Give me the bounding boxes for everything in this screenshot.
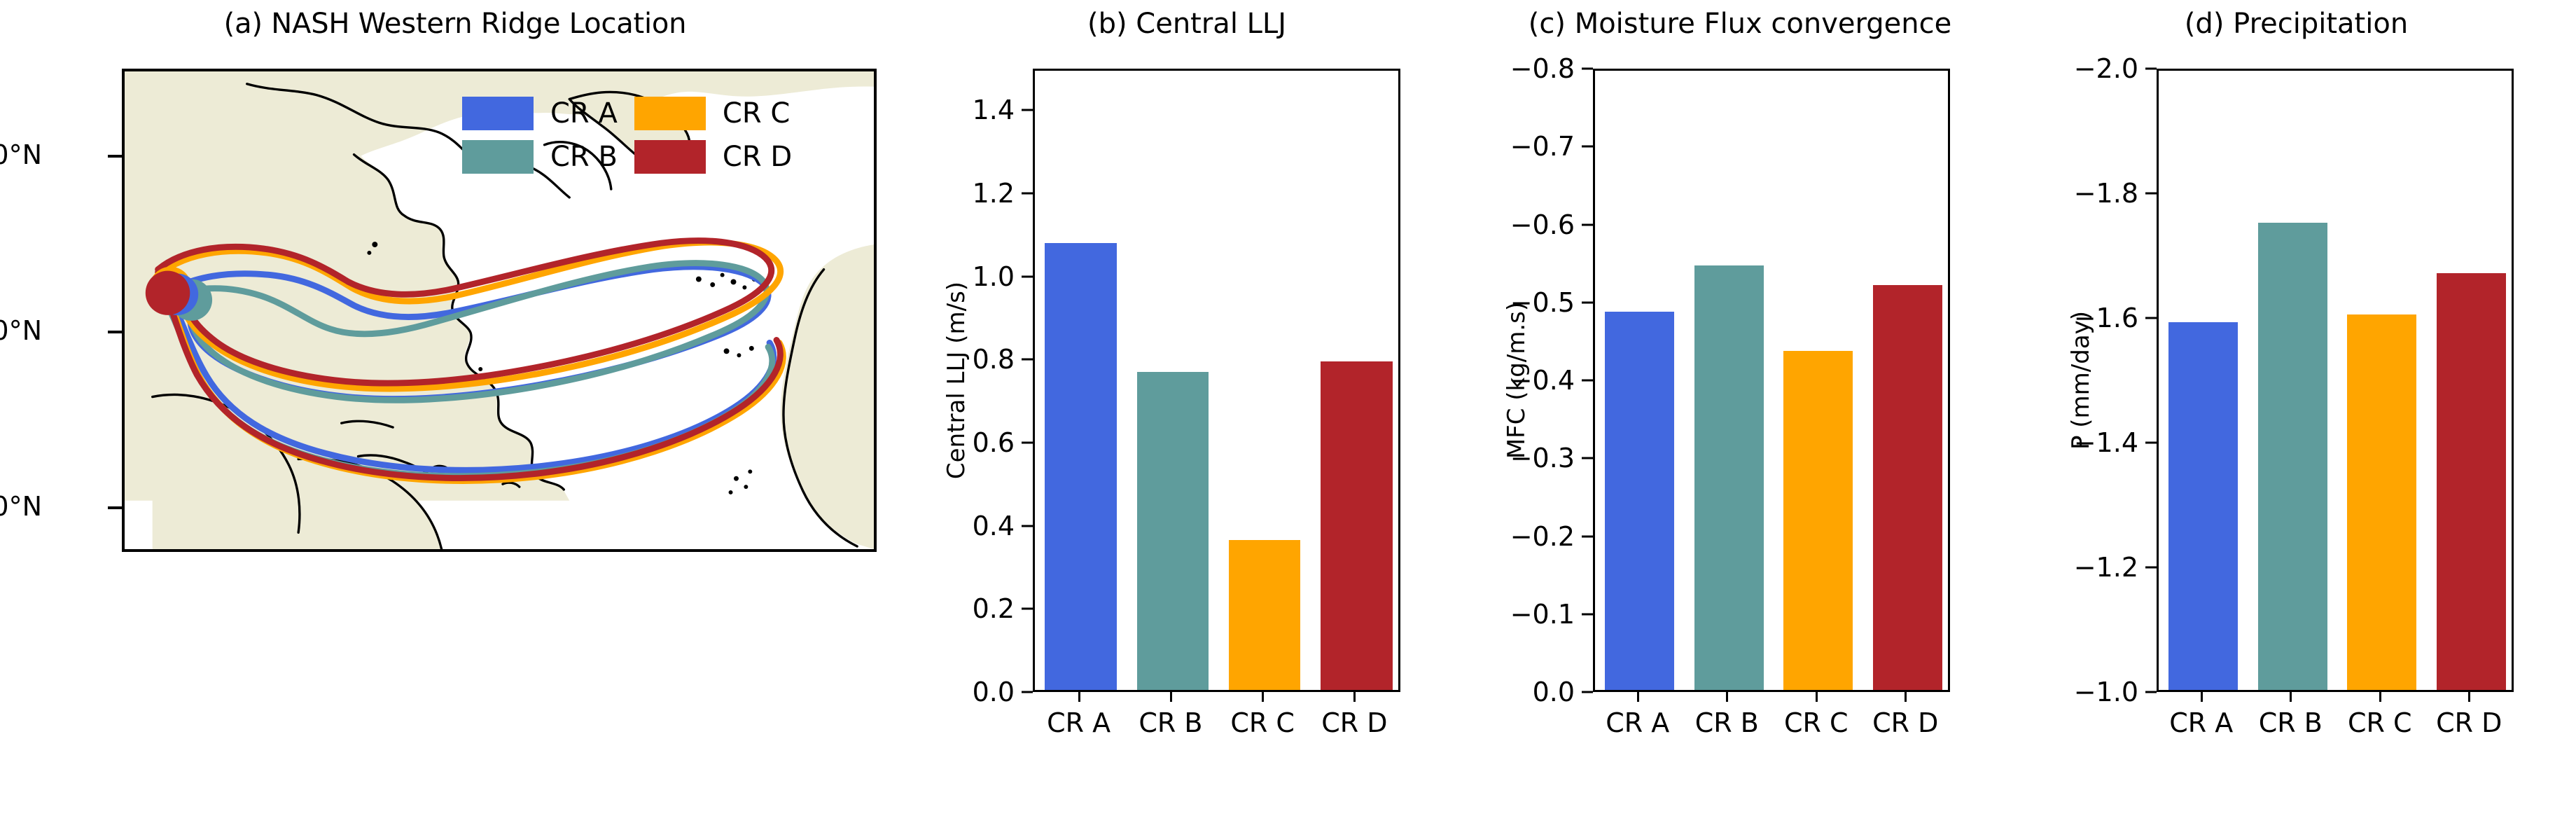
xtick-label-cr-a: CR A	[1606, 707, 1669, 738]
map-lat-tick-30	[108, 331, 122, 333]
map-frame: CR A CR C CR B CR D	[122, 69, 877, 552]
ytick-mark-3	[1582, 457, 1593, 459]
bar-cr-b	[1137, 372, 1209, 690]
panel-c-title: (c) Moisture Flux convergence	[1463, 8, 2017, 40]
ytick-mark-1	[2145, 567, 2157, 569]
ytick-mark-3	[1022, 442, 1033, 444]
ytick-mark-1	[1582, 613, 1593, 615]
legend-swatch-cr-c	[634, 97, 706, 130]
ytick-label-8: −0.8	[1510, 53, 1575, 84]
ytick-label-5: −0.5	[1510, 287, 1575, 318]
figure-root: (a) NASH Western Ridge Location	[0, 0, 2576, 816]
ytick-mark-5	[2145, 68, 2157, 70]
map-lat-label-10: 10°N	[0, 491, 42, 522]
xtick-mark-0	[1637, 692, 1639, 702]
ytick-label-7: −0.7	[1510, 131, 1575, 162]
bar-cr-a	[1045, 243, 1116, 690]
legend-swatch-cr-a	[462, 97, 534, 130]
bar-cr-d	[1873, 285, 1942, 691]
xtick-mark-3	[1905, 692, 1907, 702]
bar-cr-b	[2258, 223, 2327, 691]
ytick-label-3: 0.6	[973, 427, 1015, 458]
xtick-label-cr-b: CR B	[1695, 707, 1759, 738]
bar-cr-d	[2437, 273, 2506, 690]
panel-b-ylabel: Central LLJ (m/s)	[942, 282, 970, 479]
ridge-marker-cr-d	[146, 271, 190, 315]
ytick-label-2: −0.2	[1510, 521, 1575, 552]
ytick-label-5: −2.0	[2074, 53, 2138, 84]
panel-c-plot-area	[1593, 69, 1950, 692]
map-legend: CR A CR C CR B CR D	[462, 97, 792, 174]
bar-cr-a	[1605, 312, 1674, 690]
ytick-mark-4	[1582, 380, 1593, 382]
xtick-mark-2	[2379, 692, 2381, 702]
xtick-label-cr-b: CR B	[1139, 707, 1202, 738]
map-lat-label-30: 30°N	[0, 315, 42, 346]
map-lat-tick-10	[108, 506, 122, 509]
xtick-label-cr-c: CR C	[1784, 707, 1849, 738]
ytick-mark-4	[1022, 359, 1033, 361]
bar-cr-a	[2168, 322, 2238, 690]
ytick-mark-6	[1582, 223, 1593, 226]
panel-d-title: (d) Precipitation	[2017, 8, 2576, 40]
xtick-mark-1	[1170, 692, 1172, 702]
xtick-mark-1	[2290, 692, 2292, 702]
ytick-label-0: 0.0	[1533, 677, 1575, 707]
ytick-mark-4	[2145, 193, 2157, 195]
panel-a-map: (a) NASH Western Ridge Location	[0, 0, 910, 816]
legend-label-cr-d: CR D	[723, 143, 792, 171]
legend-label-cr-a: CR A	[550, 99, 618, 127]
ytick-mark-7	[1582, 146, 1593, 148]
bar-cr-d	[1321, 361, 1392, 690]
map-lat-tick-50	[108, 155, 122, 158]
ytick-mark-2	[1022, 525, 1033, 527]
bar-cr-c	[1783, 351, 1853, 690]
ytick-label-1: −0.1	[1510, 599, 1575, 630]
panel-b-title: (b) Central LLJ	[910, 8, 1463, 40]
panel-a-title: (a) NASH Western Ridge Location	[0, 8, 910, 40]
xtick-mark-0	[1078, 692, 1080, 702]
ytick-label-7: 1.4	[973, 95, 1015, 125]
xtick-mark-0	[2201, 692, 2203, 702]
ytick-label-5: 1.0	[973, 261, 1015, 292]
ytick-label-2: 0.4	[973, 511, 1015, 541]
xtick-label-cr-c: CR C	[1230, 707, 1295, 738]
panel-c-bars	[1595, 71, 1948, 690]
ytick-mark-0	[2145, 691, 2157, 693]
ytick-label-4: −1.8	[2074, 178, 2138, 209]
xtick-label-cr-c: CR C	[2348, 707, 2412, 738]
legend-swatch-cr-d	[634, 140, 706, 174]
legend-swatch-cr-b	[462, 140, 534, 174]
xtick-mark-3	[1353, 692, 1356, 702]
xtick-mark-2	[1816, 692, 1818, 702]
panel-d-plot-area	[2157, 69, 2514, 692]
ytick-label-6: 1.2	[973, 178, 1015, 209]
bar-cr-c	[1229, 540, 1300, 690]
ytick-label-6: −0.6	[1510, 209, 1575, 240]
xtick-label-cr-d: CR D	[1872, 707, 1938, 738]
xtick-label-cr-d: CR D	[1321, 707, 1387, 738]
ytick-mark-1	[1022, 608, 1033, 610]
ytick-mark-2	[1582, 535, 1593, 537]
panel-b-central-llj: (b) Central LLJ Central LLJ (m/s) 0.00.2…	[910, 0, 1463, 816]
xtick-label-cr-a: CR A	[1047, 707, 1111, 738]
panel-b-plot-area	[1033, 69, 1400, 692]
ytick-mark-7	[1022, 109, 1033, 111]
panel-c-moisture-flux-convergence: (c) Moisture Flux convergence MFC (kg/m.…	[1463, 0, 2017, 816]
xtick-label-cr-d: CR D	[2436, 707, 2502, 738]
ytick-label-3: −0.3	[1510, 443, 1575, 473]
xtick-label-cr-a: CR A	[2169, 707, 2233, 738]
ytick-label-1: 0.2	[973, 593, 1015, 624]
panel-b-bars	[1035, 71, 1398, 690]
ytick-label-0: −1.0	[2074, 677, 2138, 707]
bar-cr-c	[2347, 314, 2416, 690]
ytick-mark-5	[1022, 275, 1033, 277]
panel-d-precipitation: (d) Precipitation P (mm/day) −1.0−1.2−1.…	[2017, 0, 2576, 816]
ytick-mark-0	[1022, 691, 1033, 693]
ytick-label-3: −1.6	[2074, 303, 2138, 333]
ytick-mark-2	[2145, 442, 2157, 444]
xtick-mark-2	[1262, 692, 1264, 702]
xtick-label-cr-b: CR B	[2259, 707, 2323, 738]
legend-label-cr-b: CR B	[550, 143, 618, 171]
xtick-mark-1	[1726, 692, 1728, 702]
legend-label-cr-c: CR C	[723, 99, 792, 127]
ytick-label-0: 0.0	[973, 677, 1015, 707]
ytick-label-4: −0.4	[1510, 365, 1575, 396]
ytick-label-4: 0.8	[973, 344, 1015, 375]
bar-cr-b	[1694, 265, 1764, 690]
ytick-mark-5	[1582, 301, 1593, 303]
ytick-mark-8	[1582, 68, 1593, 70]
ytick-mark-0	[1582, 691, 1593, 693]
map-lat-label-50: 50°N	[0, 139, 42, 170]
panel-d-bars	[2159, 71, 2512, 690]
ytick-label-2: −1.4	[2074, 427, 2138, 458]
ytick-label-1: −1.2	[2074, 552, 2138, 583]
ytick-mark-3	[2145, 317, 2157, 319]
xtick-mark-3	[2468, 692, 2470, 702]
ytick-mark-6	[1022, 193, 1033, 195]
